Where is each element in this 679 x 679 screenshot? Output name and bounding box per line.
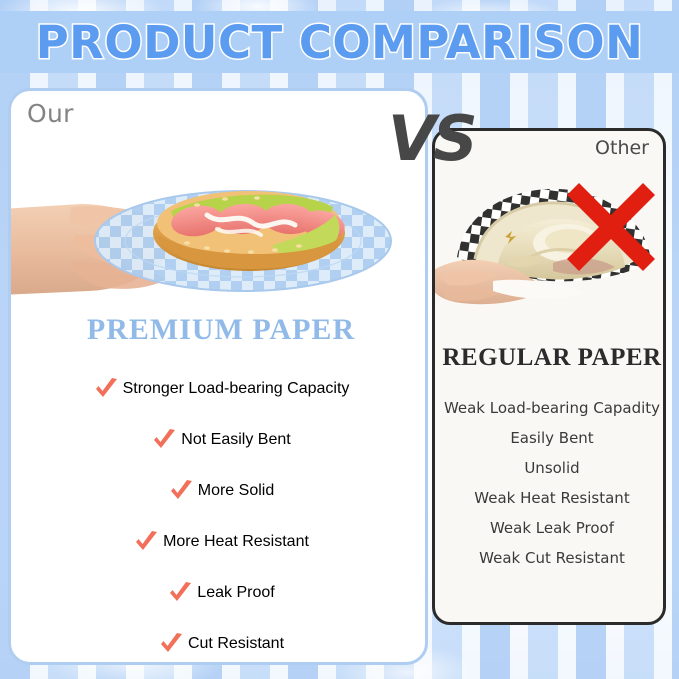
other-label: Other <box>595 137 649 159</box>
list-item: More Heat Resistant <box>11 516 428 567</box>
list-item-label: More Solid <box>198 482 274 500</box>
list-item-label: Leak Proof <box>197 584 274 602</box>
list-item: Stronger Load-bearing Capacity <box>11 363 428 414</box>
product-comparison-poster: PRODUCT COMPARISON Our <box>0 0 679 679</box>
list-item: Unsolid <box>435 453 666 483</box>
other-product-photo <box>435 165 666 313</box>
check-icon <box>168 478 194 504</box>
list-item: Weak Cut Resistant <box>435 543 666 573</box>
our-feature-list: Stronger Load-bearing Capacity Not Easil… <box>11 363 428 665</box>
hot-dog <box>153 191 347 271</box>
list-item: Easily Bent <box>435 423 666 453</box>
list-item: Weak Load-bearing Capadity <box>435 393 666 423</box>
list-item: Cut Resistant <box>11 618 428 665</box>
other-plate-illustration <box>435 165 666 313</box>
list-item: Not Easily Bent <box>11 414 428 465</box>
our-product-panel: Our <box>8 88 428 665</box>
check-icon <box>133 529 159 555</box>
page-title: PRODUCT COMPARISON <box>36 20 644 65</box>
premium-paper-heading: PREMIUM PAPER <box>11 313 428 347</box>
list-item: Weak Heat Resistant <box>435 483 666 513</box>
list-item-label: Cut Resistant <box>188 635 284 653</box>
list-item-label: More Heat Resistant <box>163 533 309 551</box>
our-plate-illustration <box>11 149 428 319</box>
check-icon <box>151 427 177 453</box>
other-feature-list: Weak Load-bearing Capadity Easily Bent U… <box>435 393 666 573</box>
check-icon <box>93 376 119 402</box>
our-product-photo <box>11 149 428 319</box>
check-icon <box>167 580 193 606</box>
list-item: More Solid <box>11 465 428 516</box>
header-banner: PRODUCT COMPARISON <box>0 11 679 73</box>
regular-paper-heading: REGULAR PAPER <box>435 344 666 372</box>
list-item: Weak Leak Proof <box>435 513 666 543</box>
other-product-panel: Other <box>432 128 666 625</box>
vs-badge: VS <box>388 108 475 170</box>
list-item: Leak Proof <box>11 567 428 618</box>
list-item-label: Not Easily Bent <box>181 431 290 449</box>
list-item-label: Stronger Load-bearing Capacity <box>123 380 350 398</box>
our-label: Our <box>27 99 74 128</box>
check-icon <box>158 631 184 657</box>
